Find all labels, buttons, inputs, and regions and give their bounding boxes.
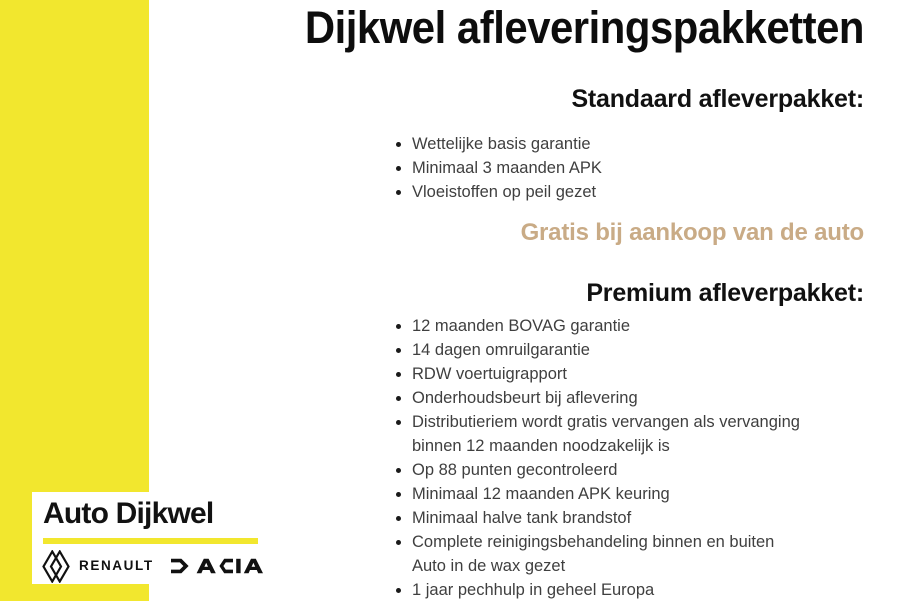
poster-canvas: Dijkwel afleveringspakketten Standaard a… xyxy=(0,0,902,601)
list-item: 14 dagen omruilgarantie xyxy=(396,338,866,362)
list-item-label: Distributieriem wordt gratis vervangen a… xyxy=(412,413,800,431)
list-item: Complete reinigingsbehandeling binnen en… xyxy=(396,530,866,578)
dacia-wordmark-icon xyxy=(171,557,263,575)
list-item-label: 14 dagen omruilgarantie xyxy=(412,341,590,359)
list-item: 12 maanden BOVAG garantie xyxy=(396,314,866,338)
renault-wordmark: RENAULT xyxy=(79,558,154,573)
promo-callout: Gratis bij aankoop van de auto xyxy=(150,218,864,248)
list-item: Minimaal 12 maanden APK keuring xyxy=(396,482,866,506)
list-item-label: Complete reinigingsbehandeling binnen en… xyxy=(412,533,774,551)
logo-yellow-rule xyxy=(43,538,258,544)
list-item-label: Minimaal 3 maanden APK xyxy=(412,159,602,177)
standard-package-heading: Standaard afleverpakket: xyxy=(150,84,864,114)
brand-row: RENAULT xyxy=(38,549,260,583)
list-item: RDW voertuigrapport xyxy=(396,362,866,386)
list-item-continuation: binnen 12 maanden noodzakelijk is xyxy=(412,434,866,458)
list-item-label: Minimaal 12 maanden APK keuring xyxy=(412,485,670,503)
list-item-label: Minimaal halve tank brandstof xyxy=(412,509,631,527)
list-item: Distributieriem wordt gratis vervangen a… xyxy=(396,410,866,458)
list-item: Wettelijke basis garantie xyxy=(396,132,866,156)
premium-package-list: 12 maanden BOVAG garantie 14 dagen omrui… xyxy=(396,314,866,601)
list-item: Minimaal halve tank brandstof xyxy=(396,506,866,530)
list-item: 1 jaar pechhulp in geheel Europa xyxy=(396,578,866,601)
list-item-label: Op 88 punten gecontroleerd xyxy=(412,461,618,479)
standard-package-list: Wettelijke basis garantie Minimaal 3 maa… xyxy=(396,132,866,204)
list-item: Onderhoudsbeurt bij aflevering xyxy=(396,386,866,410)
list-item: Vloeistoffen op peil gezet xyxy=(396,180,866,204)
premium-package-heading: Premium afleverpakket: xyxy=(150,278,864,308)
list-item-label: Onderhoudsbeurt bij aflevering xyxy=(412,389,638,407)
renault-diamond-icon xyxy=(42,550,70,583)
dealer-logo: Auto Dijkwel RENAULT xyxy=(32,492,260,584)
list-item-label: Vloeistoffen op peil gezet xyxy=(412,183,596,201)
list-item-label: Wettelijke basis garantie xyxy=(412,135,591,153)
dealer-wordmark: Auto Dijkwel xyxy=(43,496,213,532)
page-title: Dijkwel afleveringspakketten xyxy=(200,2,864,54)
list-item-label: RDW voertuigrapport xyxy=(412,365,567,383)
list-item-label: 1 jaar pechhulp in geheel Europa xyxy=(412,581,654,599)
list-item-label: 12 maanden BOVAG garantie xyxy=(412,317,630,335)
list-item: Minimaal 3 maanden APK xyxy=(396,156,866,180)
list-item: Op 88 punten gecontroleerd xyxy=(396,458,866,482)
list-item-continuation: Auto in de wax gezet xyxy=(412,554,866,578)
